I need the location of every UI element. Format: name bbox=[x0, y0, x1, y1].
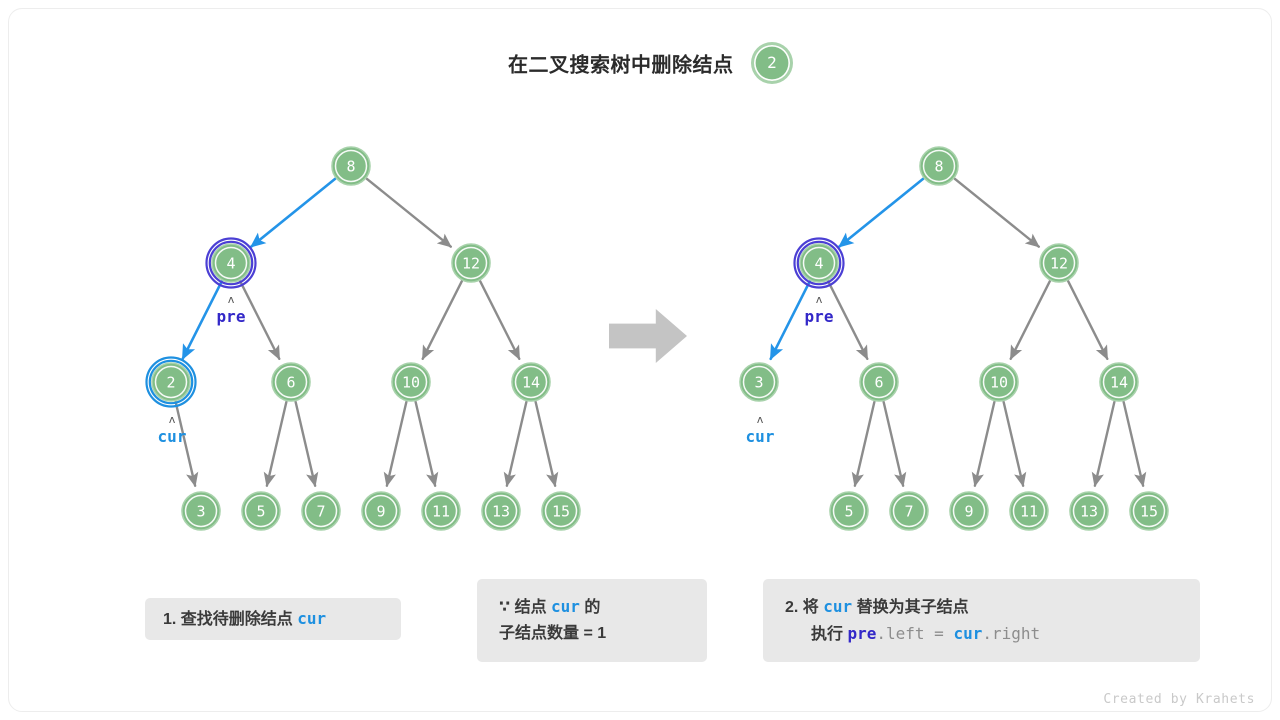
tree-edge bbox=[1011, 281, 1050, 358]
caption-step-2-left-field: .left bbox=[876, 624, 924, 643]
pointer-caret-icon: ʌ bbox=[169, 413, 176, 426]
node-inner-ring bbox=[546, 496, 577, 527]
pointer-label-pre: ʌpre bbox=[805, 293, 834, 326]
node-value: 14 bbox=[522, 374, 540, 392]
pointer-name: cur bbox=[158, 427, 187, 446]
caption-step-2-cur-token-2: cur bbox=[953, 624, 982, 643]
node-inner-ring bbox=[1074, 496, 1105, 527]
tree-edge bbox=[267, 402, 286, 486]
node-inner-ring bbox=[186, 496, 217, 527]
node-inner-ring bbox=[486, 496, 517, 527]
tree-edge bbox=[251, 179, 335, 247]
pointer-caret-icon: ʌ bbox=[228, 293, 235, 306]
node-value: 4 bbox=[226, 255, 235, 273]
caption-step-2-prefix: 2. 将 bbox=[785, 599, 823, 616]
pointer-label-cur: ʌcur bbox=[746, 413, 775, 446]
tree-edge bbox=[240, 281, 279, 358]
node-value: 10 bbox=[402, 374, 420, 392]
node-circle bbox=[152, 363, 190, 401]
node-inner-ring bbox=[834, 496, 865, 527]
node-inner-ring bbox=[426, 496, 457, 527]
nodes-left-tree: 84122610143579111315 bbox=[147, 147, 581, 530]
tree-node-15[interactable]: 15 bbox=[542, 492, 580, 530]
node-inner-ring bbox=[246, 496, 277, 527]
step-badge-number: 2 bbox=[754, 45, 790, 81]
tree-node-8[interactable]: 8 bbox=[332, 147, 370, 185]
tree-edge bbox=[884, 402, 903, 486]
tree-node-4[interactable]: 4 bbox=[207, 239, 256, 288]
node-circle bbox=[242, 492, 280, 530]
node-value: 5 bbox=[844, 503, 853, 521]
node-inner-ring bbox=[1134, 496, 1165, 527]
tree-edge bbox=[1068, 281, 1107, 358]
node-value: 5 bbox=[256, 503, 265, 521]
node-value: 4 bbox=[814, 255, 823, 273]
node-inner-ring bbox=[954, 496, 985, 527]
tree-node-3[interactable]: 3 bbox=[182, 492, 220, 530]
transition-arrow-shape bbox=[609, 309, 687, 363]
node-highlight-inner-ring bbox=[210, 242, 252, 284]
tree-node-3[interactable]: 3 bbox=[740, 363, 778, 401]
node-circle bbox=[302, 492, 340, 530]
tree-edge bbox=[1095, 402, 1114, 486]
node-value: 13 bbox=[1080, 503, 1098, 521]
caption-reason-cur-token: cur bbox=[551, 597, 580, 616]
node-value: 6 bbox=[874, 374, 883, 392]
caption-reason-suffix: 的 bbox=[580, 599, 600, 616]
caption-reason-prefix: ∵ 结点 bbox=[499, 599, 551, 616]
caption-step-1-prefix: 1. 查找待删除结点 bbox=[163, 611, 297, 628]
node-inner-ring bbox=[336, 151, 367, 182]
tree-edge bbox=[480, 281, 519, 358]
tree-node-12[interactable]: 12 bbox=[1040, 244, 1078, 282]
node-value: 12 bbox=[1050, 255, 1068, 273]
node-value: 8 bbox=[346, 158, 355, 176]
tree-node-6[interactable]: 6 bbox=[272, 363, 310, 401]
pointer-name: pre bbox=[217, 307, 246, 326]
pointer-caret-icon: ʌ bbox=[816, 293, 823, 306]
tree-node-9[interactable]: 9 bbox=[950, 492, 988, 530]
node-circle bbox=[332, 147, 370, 185]
tree-edge bbox=[387, 402, 406, 486]
tree-node-6[interactable]: 6 bbox=[860, 363, 898, 401]
tree-node-5[interactable]: 5 bbox=[830, 492, 868, 530]
node-value: 14 bbox=[1110, 374, 1128, 392]
node-value: 7 bbox=[904, 503, 913, 521]
right-arrow-icon bbox=[609, 309, 687, 363]
node-value: 15 bbox=[552, 503, 570, 521]
caption-step-2-suffix: 替换为其子结点 bbox=[852, 599, 968, 616]
pointer-caret-icon: ʌ bbox=[757, 413, 764, 426]
caption-step-1-cur-token: cur bbox=[297, 609, 326, 628]
tree-node-8[interactable]: 8 bbox=[920, 147, 958, 185]
pointer-label-cur: ʌcur bbox=[158, 413, 187, 446]
node-highlight-inner-ring bbox=[798, 242, 840, 284]
node-circle bbox=[1010, 492, 1048, 530]
caption-step-1: 1. 查找待删除结点 cur bbox=[145, 598, 401, 640]
node-inner-ring bbox=[276, 367, 307, 398]
node-inner-ring bbox=[894, 496, 925, 527]
node-value: 9 bbox=[964, 503, 973, 521]
node-inner-ring bbox=[1104, 367, 1135, 398]
node-value: 10 bbox=[990, 374, 1008, 392]
tree-edge bbox=[839, 179, 923, 247]
tree-edge bbox=[367, 179, 451, 247]
node-highlight-inner-ring bbox=[150, 361, 192, 403]
node-inner-ring bbox=[804, 248, 835, 279]
tree-node-10[interactable]: 10 bbox=[392, 363, 430, 401]
tree-edge bbox=[771, 281, 810, 358]
node-inner-ring bbox=[516, 367, 547, 398]
tree-edge bbox=[1124, 402, 1143, 486]
caption-reason-line-2: 子结点数量 = 1 bbox=[499, 621, 685, 647]
tree-edge bbox=[955, 179, 1039, 247]
tree-node-11[interactable]: 11 bbox=[422, 492, 460, 530]
caption-step-1-line: 1. 查找待删除结点 cur bbox=[163, 606, 383, 633]
tree-edge bbox=[855, 402, 874, 486]
node-inner-ring bbox=[456, 248, 487, 279]
node-inner-ring bbox=[216, 248, 247, 279]
node-inner-ring bbox=[156, 367, 187, 398]
tree-node-13[interactable]: 13 bbox=[1070, 492, 1108, 530]
node-inner-ring bbox=[306, 496, 337, 527]
node-circle bbox=[182, 492, 220, 530]
caption-step-2-line-1: 2. 将 cur 替换为其子结点 bbox=[785, 594, 1178, 621]
edges-left-tree bbox=[176, 179, 555, 486]
caption-step-2-equals: = bbox=[925, 624, 954, 643]
node-inner-ring bbox=[1014, 496, 1045, 527]
caption-reason: ∵ 结点 cur 的 子结点数量 = 1 bbox=[477, 579, 707, 662]
node-value: 3 bbox=[754, 374, 763, 392]
tree-edge bbox=[183, 281, 222, 358]
caption-step-2-line-2: 执行 pre.left = cur.right bbox=[785, 621, 1178, 648]
tree-node-2[interactable]: 2 bbox=[147, 358, 196, 407]
tree-edge bbox=[536, 402, 555, 486]
edges-right-tree bbox=[771, 179, 1143, 486]
node-circle bbox=[1100, 363, 1138, 401]
node-value: 11 bbox=[432, 503, 450, 521]
step-badge: 2 bbox=[754, 45, 790, 81]
tree-node-14[interactable]: 14 bbox=[512, 363, 550, 401]
tree-node-11[interactable]: 11 bbox=[1010, 492, 1048, 530]
footer-credit: Created by Krahets bbox=[1103, 692, 1255, 707]
node-circle bbox=[800, 244, 838, 282]
tree-node-14[interactable]: 14 bbox=[1100, 363, 1138, 401]
node-circle bbox=[452, 244, 490, 282]
node-circle bbox=[482, 492, 520, 530]
diagram-stage: 在二叉搜索树中删除结点 2 84122610143579111315 84123… bbox=[9, 9, 1272, 712]
node-circle bbox=[512, 363, 550, 401]
node-inner-ring bbox=[984, 367, 1015, 398]
pointers-left-tree: ʌpreʌcur bbox=[158, 293, 246, 446]
caption-step-2-exec-label: 执行 bbox=[811, 626, 847, 643]
tree-edge bbox=[423, 281, 462, 358]
caption-step-2-pre-token: pre bbox=[847, 624, 876, 643]
node-circle bbox=[392, 363, 430, 401]
node-value: 2 bbox=[166, 374, 175, 392]
node-inner-ring bbox=[1044, 248, 1075, 279]
node-value: 6 bbox=[286, 374, 295, 392]
tree-node-12[interactable]: 12 bbox=[452, 244, 490, 282]
tree-edge bbox=[416, 402, 435, 486]
node-circle bbox=[1070, 492, 1108, 530]
node-value: 11 bbox=[1020, 503, 1038, 521]
node-circle bbox=[1040, 244, 1078, 282]
tree-edge bbox=[975, 402, 994, 486]
tree-node-7[interactable]: 7 bbox=[302, 492, 340, 530]
node-circle bbox=[890, 492, 928, 530]
node-circle bbox=[1130, 492, 1168, 530]
node-inner-ring bbox=[744, 367, 775, 398]
node-circle bbox=[272, 363, 310, 401]
node-circle bbox=[362, 492, 400, 530]
nodes-right-tree: 8412361014579111315 bbox=[740, 147, 1168, 530]
title-text: 在二叉搜索树中删除结点 bbox=[508, 55, 734, 77]
node-circle bbox=[542, 492, 580, 530]
tree-node-9[interactable]: 9 bbox=[362, 492, 400, 530]
tree-node-15[interactable]: 15 bbox=[1130, 492, 1168, 530]
tree-node-7[interactable]: 7 bbox=[890, 492, 928, 530]
node-highlight-outer-ring bbox=[207, 239, 256, 288]
pointer-label-pre: ʌpre bbox=[217, 293, 246, 326]
pointer-name: cur bbox=[746, 427, 775, 446]
node-circle bbox=[212, 244, 250, 282]
tree-edge bbox=[1004, 402, 1023, 486]
node-highlight-outer-ring bbox=[147, 358, 196, 407]
node-highlight-outer-ring bbox=[795, 239, 844, 288]
node-circle bbox=[950, 492, 988, 530]
node-inner-ring bbox=[366, 496, 397, 527]
diagram-card: 在二叉搜索树中删除结点 2 84122610143579111315 84123… bbox=[8, 8, 1272, 712]
tree-node-10[interactable]: 10 bbox=[980, 363, 1018, 401]
node-circle bbox=[830, 492, 868, 530]
pointers-right-tree: ʌpreʌcur bbox=[746, 293, 834, 446]
node-inner-ring bbox=[924, 151, 955, 182]
caption-reason-line-1: ∵ 结点 cur 的 bbox=[499, 594, 685, 621]
tree-node-5[interactable]: 5 bbox=[242, 492, 280, 530]
node-circle bbox=[980, 363, 1018, 401]
tree-node-13[interactable]: 13 bbox=[482, 492, 520, 530]
node-circle bbox=[920, 147, 958, 185]
node-circle bbox=[860, 363, 898, 401]
pointer-name: pre bbox=[805, 307, 834, 326]
node-value: 15 bbox=[1140, 503, 1158, 521]
tree-node-4[interactable]: 4 bbox=[795, 239, 844, 288]
node-circle bbox=[422, 492, 460, 530]
tree-edge bbox=[828, 281, 867, 358]
node-value: 7 bbox=[316, 503, 325, 521]
tree-edge bbox=[296, 402, 315, 486]
node-value: 9 bbox=[376, 503, 385, 521]
node-inner-ring bbox=[396, 367, 427, 398]
caption-step-2-cur-token: cur bbox=[823, 597, 852, 616]
tree-edge bbox=[507, 402, 526, 486]
node-inner-ring bbox=[864, 367, 895, 398]
caption-step-2-right-field: .right bbox=[982, 624, 1040, 643]
caption-step-2: 2. 将 cur 替换为其子结点 执行 pre.left = cur.right bbox=[763, 579, 1200, 662]
node-circle bbox=[740, 363, 778, 401]
node-value: 12 bbox=[462, 255, 480, 273]
tree-edge bbox=[176, 402, 195, 486]
page-title: 在二叉搜索树中删除结点 2 bbox=[9, 45, 1272, 81]
node-value: 3 bbox=[196, 503, 205, 521]
node-value: 13 bbox=[492, 503, 510, 521]
node-value: 8 bbox=[934, 158, 943, 176]
